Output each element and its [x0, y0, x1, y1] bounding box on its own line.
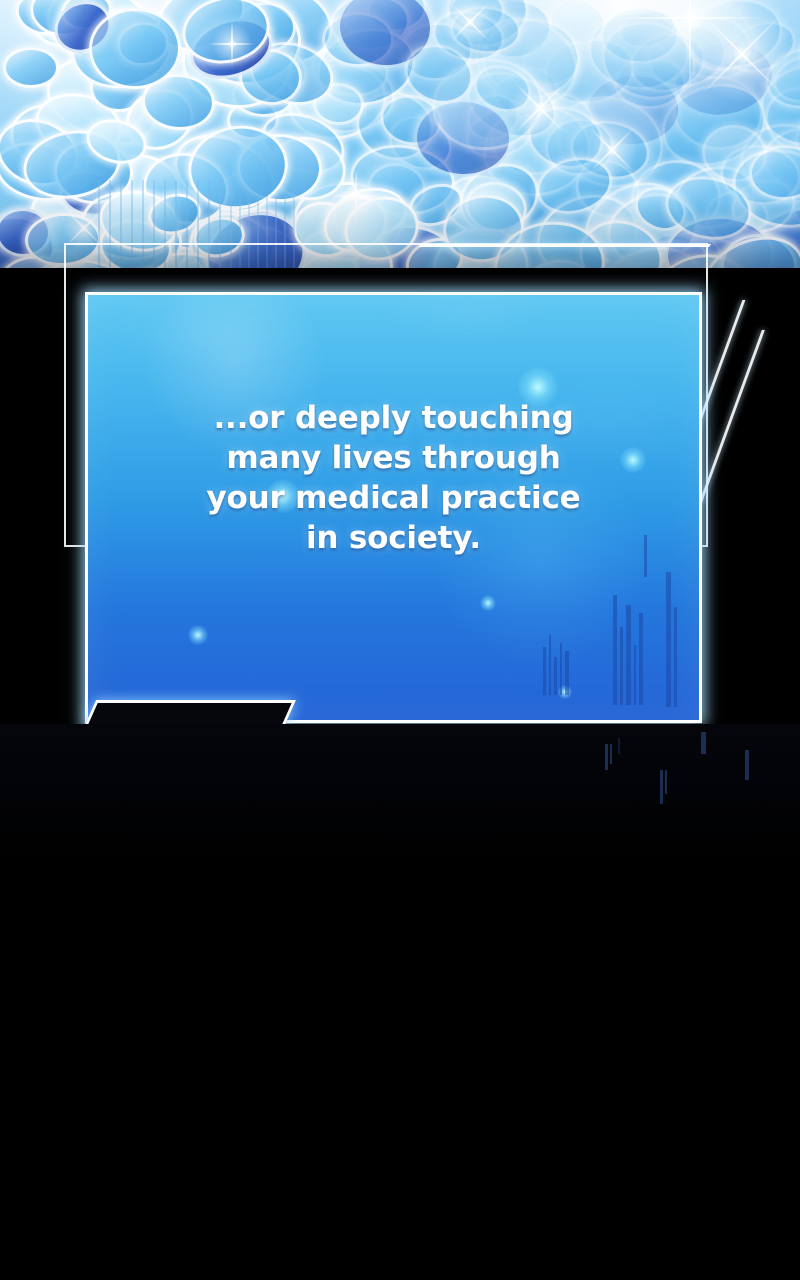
cell-bubble	[623, 25, 712, 101]
cell-bubble	[503, 63, 562, 115]
cell-bubble	[82, 113, 152, 170]
cell-bubble	[312, 81, 366, 127]
cell-bubble	[192, 0, 302, 85]
cell-bubble	[243, 33, 342, 115]
cell-bubble	[721, 12, 800, 82]
cell-bubble	[444, 0, 508, 36]
cell-bubble	[182, 8, 279, 88]
cell-bubble	[762, 124, 800, 190]
cell-bubble	[467, 58, 537, 120]
cell-bubble	[327, 0, 412, 54]
cell-bubble	[22, 131, 98, 202]
cell-bubble	[583, 70, 682, 148]
cell-bubble	[231, 73, 295, 118]
cell-bubble	[403, 176, 469, 233]
cell-bubble	[176, 0, 275, 71]
sparkle-flare	[615, 0, 765, 93]
cell-bubble	[667, 32, 782, 126]
cell-bubble	[39, 0, 156, 71]
cell-bubble	[566, 115, 655, 187]
panel-barcode-c	[543, 635, 569, 695]
cell-bubble	[543, 116, 617, 179]
cell-bubble	[87, 6, 182, 90]
faint-barcode	[605, 744, 612, 770]
panel-barcode-b	[613, 595, 643, 705]
cell-bubble	[545, 83, 675, 202]
sparkle-flare	[505, 73, 575, 143]
cell-bubble	[225, 96, 281, 141]
faint-barcode	[701, 732, 706, 754]
cell-bubble	[224, 0, 340, 74]
cell-bubble	[474, 0, 554, 62]
cell-bubble	[0, 206, 53, 259]
cell-bubble	[346, 140, 459, 222]
faint-barcode	[618, 738, 620, 754]
cell-bubble	[364, 0, 430, 37]
cell-bubble	[364, 159, 429, 218]
cell-bubble	[178, 11, 296, 112]
cell-bubble	[427, 52, 549, 157]
cell-bubble	[781, 151, 800, 245]
cell-bubble	[448, 151, 550, 245]
cell-bubble	[182, 118, 295, 217]
cell-bubble	[282, 55, 394, 148]
cell-bubble	[290, 56, 396, 136]
cell-bubble	[652, 71, 776, 177]
cell-bubble	[18, 122, 126, 205]
cell-bubble	[760, 40, 800, 116]
cell-bubble	[146, 0, 256, 64]
cell-bubble	[725, 139, 800, 237]
cell-bubble	[65, 1, 178, 95]
cell-bubble	[448, 3, 522, 56]
cell-bubble	[659, 169, 757, 248]
cell-bubble	[307, 37, 393, 102]
cell-bubble	[59, 0, 115, 33]
cell-bubble	[134, 164, 242, 257]
cell-bubble	[702, 188, 771, 248]
cell-bubble	[670, 72, 767, 154]
cell-bubble	[681, 0, 788, 76]
cell-bubble	[0, 212, 57, 268]
cell-bubble	[519, 35, 585, 92]
cell-bubble	[667, 158, 762, 238]
cell-bubble	[477, 98, 597, 203]
cell-bubble	[235, 132, 323, 204]
cell-bubble	[413, 98, 513, 178]
cell-bubble	[3, 47, 59, 88]
cell-bubble	[787, 252, 800, 268]
cell-bubble	[30, 0, 105, 50]
cell-bubble	[334, 0, 435, 72]
cell-cluster	[0, 0, 800, 268]
cell-bubble	[341, 0, 416, 54]
cell-bubble	[698, 121, 770, 186]
cell-bubble	[329, 183, 410, 243]
cell-bubble	[615, 4, 680, 55]
cell-bubble	[585, 6, 694, 94]
cell-bubble	[593, 11, 704, 110]
cell-bubble	[462, 177, 531, 237]
cell-bubble	[599, 5, 680, 65]
cell-bubble	[531, 148, 620, 222]
sparkle-flare	[687, 0, 797, 109]
cell-bubble	[567, 149, 649, 227]
panel-barcode-a	[666, 572, 677, 707]
cell-bubble	[9, 0, 71, 43]
faint-barcode	[745, 750, 749, 780]
cell-bubble	[265, 131, 352, 206]
cell-bubble	[117, 79, 204, 161]
cell-bubble	[748, 143, 800, 202]
cell-bubble	[627, 179, 693, 240]
cell-bubble	[0, 134, 88, 208]
comic-page: ...or deeply touching many lives through…	[0, 0, 800, 1280]
cell-bubble	[678, 9, 758, 79]
cell-bubble	[482, 18, 580, 100]
cell-bubble	[733, 115, 800, 211]
sparkle-flare	[444, 0, 496, 48]
cell-bubble	[69, 183, 142, 245]
bottom-hud-strip	[0, 1060, 800, 1280]
cell-bubble	[437, 166, 533, 245]
hud-diagonal-line-b	[698, 330, 765, 505]
bubble-cell-field	[0, 0, 800, 268]
empty-dark-space	[0, 724, 800, 1084]
cell-bubble	[641, 0, 770, 94]
cell-bubble	[487, 68, 549, 125]
cell-bubble	[396, 35, 482, 114]
cell-bubble	[25, 0, 94, 42]
panel-barcode-d	[644, 535, 647, 577]
cell-bubble	[628, 156, 725, 239]
cell-bubble	[459, 100, 540, 166]
cell-bubble	[540, 32, 639, 110]
cell-bubble	[47, 0, 120, 62]
cell-bubble	[457, 59, 566, 150]
cell-bubble	[478, 77, 607, 189]
cell-bubble	[716, 140, 800, 209]
panel-dialogue-text: ...or deeply touching many lives through…	[88, 398, 699, 558]
cell-bubble	[167, 126, 251, 194]
sparkle-flare	[209, 21, 255, 67]
cell-bubble	[546, 0, 610, 48]
cell-bubble	[115, 19, 172, 69]
cell-bubble	[235, 44, 306, 108]
cell-bubble	[755, 58, 800, 154]
cell-bubble	[89, 85, 164, 154]
cell-bubble	[380, 106, 460, 180]
cell-bubble	[613, 55, 687, 110]
dialogue-panel: ...or deeply touching many lives through…	[85, 292, 702, 723]
cell-bubble	[238, 38, 313, 101]
cell-bubble	[309, 18, 424, 116]
cell-bubble	[144, 188, 205, 239]
cell-bubble	[140, 72, 217, 133]
sparkle-flare	[329, 169, 383, 223]
cell-bubble	[740, 196, 800, 268]
cell-bubble	[253, 102, 353, 185]
cell-bubble	[54, 165, 124, 223]
cell-bubble	[439, 0, 536, 57]
cell-bubble	[162, 120, 287, 228]
cell-bubble	[459, 85, 527, 149]
cell-bubble	[322, 12, 394, 67]
cell-bubble	[236, 2, 296, 53]
cell-bubble	[520, 97, 611, 177]
cell-bubble	[138, 147, 234, 231]
cell-bubble	[461, 1, 591, 121]
hud-top-diagonal-bar	[419, 244, 711, 247]
cell-bubble	[375, 89, 446, 151]
cell-bubble	[768, 49, 800, 108]
cell-bubble	[720, 232, 798, 268]
cell-bubble	[428, 4, 510, 67]
cell-bubble	[791, 24, 800, 95]
cell-bubble	[756, 76, 800, 168]
cell-bubble	[29, 85, 128, 165]
cell-bubble	[37, 45, 156, 147]
cell-bubble	[5, 97, 102, 176]
cell-bubble	[640, 16, 734, 97]
cell-bubble	[106, 145, 187, 213]
cell-bubble	[786, 89, 800, 176]
cell-bubble	[349, 83, 441, 168]
faint-barcode	[660, 770, 667, 804]
cell-bubble	[317, 183, 392, 252]
cell-bubble	[724, 172, 800, 241]
cell-bubble	[0, 108, 87, 195]
cell-bubble	[90, 63, 149, 113]
sparkle-flare	[582, 120, 642, 180]
cell-bubble	[52, 138, 135, 206]
cell-bubble	[398, 19, 475, 83]
